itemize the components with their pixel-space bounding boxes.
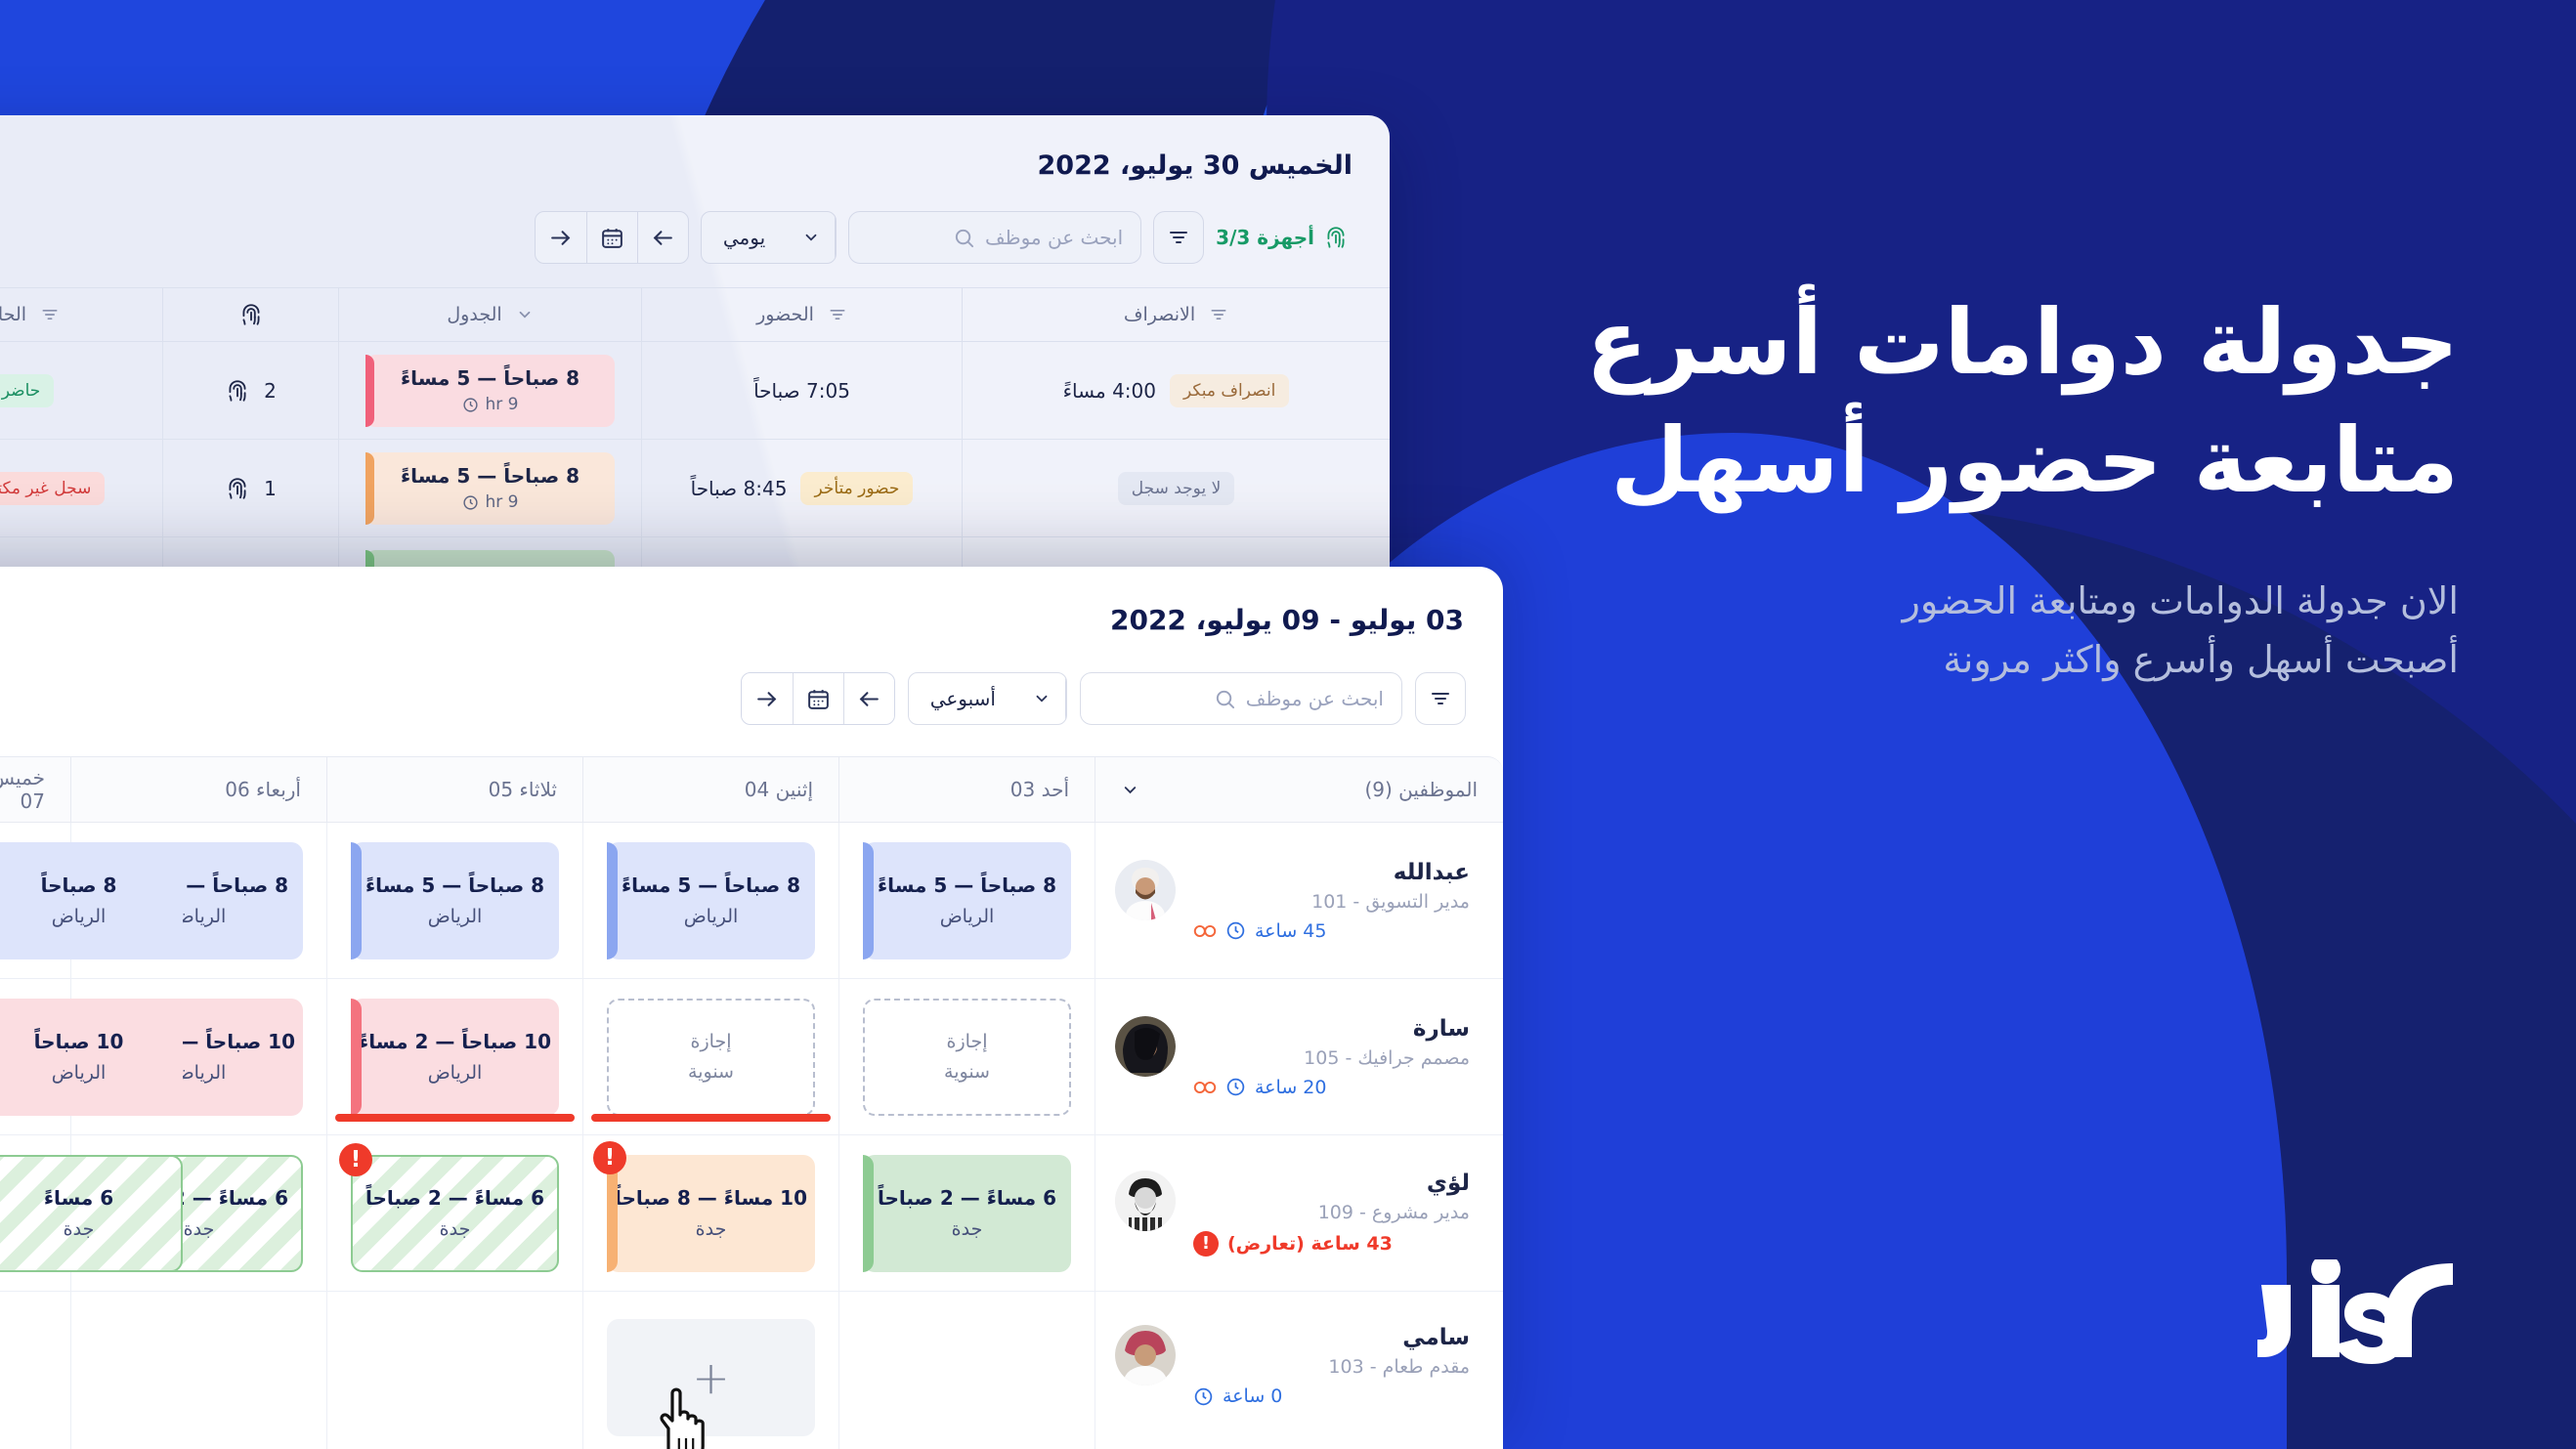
cell-add-shift[interactable]: + [582,1292,838,1449]
employee-role: مدير مشروع - 109 [1193,1202,1470,1223]
employee-info: لؤي مدير مشروع - 109 43 ساعة (تعارض) ! [1095,1171,1503,1257]
shift-card[interactable]: 8 صباحاً — 5 مساءً 9 hr [365,452,615,525]
hero-subtext: الان جدولة الدوامات ومتابعة الحضور أصبحت… [1384,572,2459,689]
clock-icon [462,397,479,413]
shift-time: 8 صباحاً — 5 مساءً [622,874,800,897]
table-row[interactable]: لا يوجد سجل حضور متأخر 8:45 صباحاً 8 صبا… [0,440,1390,537]
day-label: أحد 03 [1010,778,1069,801]
leave-type: إجازة [691,1031,732,1052]
cell-shift[interactable]: 8 صباحاً — 5 مساءً الرياض [326,823,582,978]
shift-time: 6 مساءً [44,1186,113,1210]
cell-shift[interactable]: 8 صباحاً الرياض [0,823,70,978]
employee-name: سامي [1193,1325,1470,1350]
daily-filter-button[interactable] [1153,211,1204,264]
column-header-employee-label: الموظفين (9) [1364,778,1478,801]
arrow-left-icon [857,687,881,711]
status-badge-label: سجل غير مكتمل [0,479,91,498]
shift-location: الرياض [52,1062,107,1084]
cell-shift[interactable]: ! 6 مساءً — 2 صباحاً جدة [326,1135,582,1291]
employee-role: مدير التسويق - 101 [1193,891,1470,913]
chevron-down-icon [516,306,534,323]
employee-info: سامي مقدم طعام - 103 0 ساعة [1095,1325,1503,1407]
shift-location: الرياض [52,906,107,927]
device-count: 1 [264,477,277,500]
column-header-device[interactable] [162,288,338,341]
shift-location: الرياض [940,906,995,927]
hero-subtext-line-1: الان جدولة الدوامات ومتابعة الحضور [1902,579,2459,622]
day-label: خميس 07 [0,766,45,813]
cell-shift[interactable]: 6 مساءً جدة [0,1135,70,1291]
arrow-right-icon [754,687,779,711]
shift-location: جدة [952,1218,983,1240]
shift-time: 6 مساءً — 2 صباحاً [878,1186,1056,1210]
cell-shift[interactable]: 10 صباحاً — 2 مساءً الرياض [326,979,582,1134]
filter-icon [1167,226,1190,249]
leave-subtype: سنوية [688,1061,734,1083]
column-header-status[interactable]: الحالة [0,288,162,341]
arrow-right-icon [548,226,573,250]
daily-calendar-button[interactable] [586,212,637,263]
shift-card-edge [351,842,362,959]
shift-time: 8 صباحاً — 5 مساءً [387,366,593,390]
column-header-checkout[interactable]: الانصراف [962,288,1390,341]
shift-card[interactable]: 6 مساءً — 2 صباحاً جدة [863,1155,1071,1272]
daily-prev-button[interactable] [637,212,688,263]
cell-employee: لؤي مدير مشروع - 109 43 ساعة (تعارض) ! [1095,1135,1503,1291]
alert-icon: ! [1193,1231,1219,1257]
column-header-day-3[interactable]: أربعاء 06 [70,757,326,822]
leave-type: إجازة [947,1031,988,1052]
cell-checkin: 7:05 صباحاً [641,342,962,439]
shift-location: الرياض [428,1062,483,1084]
cell-status: سجل غير مكتمل [0,440,162,536]
table-row[interactable]: لؤي مدير مشروع - 109 43 ساعة (تعارض) ! [0,1135,1503,1292]
status-badge: حاضر [0,374,54,407]
column-header-status-label: الحالة [0,304,26,325]
leave-subtype: سنوية [944,1061,990,1083]
weekly-next-button[interactable] [742,673,793,724]
column-header-day-2[interactable]: ثلاثاء 05 [326,757,582,822]
clock-icon [1225,1077,1246,1097]
employee-name: سارة [1193,1016,1470,1042]
shift-card[interactable]: 6 مساءً جدة [0,1155,183,1272]
cell-employee: عبدالله مدير التسويق - 101 45 ساعة [1095,823,1503,978]
weekly-toolbar: ابحث عن موظف أسبوعي [741,672,1466,725]
clock-icon [462,494,479,511]
fingerprint-icon [238,302,264,327]
daily-attendance-panel: الخميس 30 يوليو، 2022 أجهزة 3/3 ابحث عن … [0,115,1390,604]
clock-icon [1193,1386,1214,1407]
shift-location: جدة [184,1218,215,1240]
employee-hours-label: 0 ساعة [1223,1385,1282,1407]
chevron-down-icon [1121,781,1139,799]
column-header-checkin-label: الحضور [756,304,814,325]
hero-headline: جدولة دوامات أسرع متابعة حضور أسهل [1384,283,2459,521]
employee-role: مقدم طعام - 103 [1193,1356,1470,1378]
shift-card[interactable]: 8 صباحاً — 5 مساءً الرياض [351,842,559,959]
calendar-icon [600,226,624,250]
filter-icon [40,305,60,324]
table-row[interactable]: انصراف مبكر 4:00 مساءً 7:05 صباحاً 8 صبا… [0,342,1390,440]
shift-time: 8 صباحاً — 5 مساءً [365,874,544,897]
cell-status: حاضر [0,342,162,439]
calendar-icon [806,687,831,711]
shift-card[interactable]: 10 صباحاً الرياض [0,999,183,1116]
weekly-search-placeholder: ابحث عن موظف [1246,687,1384,710]
column-header-schedule-label: الجدول [447,304,501,325]
daily-search-input[interactable]: ابحث عن موظف [848,211,1141,264]
devices-badge: أجهزة 3/3 [1216,225,1349,250]
hero-section: جدولة دوامات أسرع متابعة حضور أسهل الان … [1384,283,2459,689]
shift-location: جدة [64,1218,95,1240]
status-badge: سجل غير مكتمل [0,472,105,505]
table-row[interactable]: سارة مصمم جرافيك - 105 20 ساعة [0,979,1503,1135]
cell-shift[interactable]: 8 صباحاً — 5 مساءً الرياض [838,823,1095,978]
cell-checkout: انصراف مبكر 4:00 مساءً [962,342,1390,439]
shift-card-edge [365,355,374,427]
shift-card[interactable]: 8 صباحاً الرياض [0,842,183,959]
shift-card[interactable]: 8 صباحاً — 5 مساءً الرياض [863,842,1071,959]
avatar [1115,1325,1176,1385]
shift-location: الرياض [684,906,739,927]
avatar [1115,860,1176,920]
shift-card[interactable]: ! 6 مساءً — 2 صباحاً جدة [351,1155,559,1272]
devices-badge-label: أجهزة 3/3 [1216,226,1314,249]
table-row[interactable]: عبدالله مدير التسويق - 101 45 ساعة [0,823,1503,979]
employee-info: عبدالله مدير التسويق - 101 45 ساعة [1095,860,1503,942]
employee-hours: 20 ساعة [1193,1077,1470,1098]
column-header-day-4[interactable]: خميس 07 [0,757,70,822]
weekly-view-mode-select[interactable]: أسبوعي [908,672,1067,725]
search-icon [953,227,975,249]
fingerprint-icon [1323,225,1349,250]
cell-empty[interactable] [0,1292,70,1449]
status-badge: انصراف مبكر [1170,374,1289,407]
cell-device: 1 [162,440,338,536]
shift-time: 10 مساءً — 8 صباحاً [615,1186,807,1210]
shift-card[interactable]: 8 صباحاً — 5 مساءً 9 hr [365,355,615,427]
column-header-day-0[interactable]: أحد 03 [838,757,1095,822]
weekly-search-input[interactable]: ابحث عن موظف [1080,672,1402,725]
cell-employee: سارة مصمم جرافيك - 105 20 ساعة [1095,979,1503,1134]
search-icon [1214,688,1236,710]
shift-card[interactable]: 10 صباحاً — 2 مساءً الرياض [351,999,559,1116]
cell-checkin: حضور متأخر 8:45 صباحاً [641,440,962,536]
daily-date-nav-group [535,211,689,264]
cell-leave[interactable]: إجازة سنوية [838,979,1095,1134]
cell-empty[interactable] [326,1292,582,1449]
column-header-day-1[interactable]: إثنين 04 [582,757,838,822]
daily-next-button[interactable] [536,212,586,263]
employee-hours-label: 20 ساعة [1255,1077,1326,1098]
status-badge: حضور متأخر [800,472,913,505]
alert-icon[interactable]: ! [339,1143,372,1176]
cell-shift[interactable]: 6 مساءً — 2 صباحاً جدة [838,1135,1095,1291]
cell-device: 2 [162,342,338,439]
shift-time: 8 صباحاً — 5 مساءً [387,464,593,488]
shift-duration: 9 hr [387,492,593,512]
hero-headline-line-1: جدولة دوامات أسرع [1586,290,2459,395]
cell-shift[interactable]: 10 صباحاً الرياض [0,979,70,1134]
shift-duration: 9 hr [387,395,593,414]
shift-duration-label: 9 hr [486,395,519,414]
day-label: إثنين 04 [745,778,813,801]
fingerprint-icon [225,378,250,404]
repeat-icon [1193,923,1217,939]
daily-search-placeholder: ابحث عن موظف [985,226,1123,249]
cell-checkout: لا يوجد سجل [962,440,1390,536]
shift-location: جدة [696,1218,727,1240]
daily-toolbar: أجهزة 3/3 ابحث عن موظف يومي [535,211,1354,264]
day-label: ثلاثاء 05 [489,778,557,801]
leave-card[interactable]: إجازة سنوية [863,999,1071,1116]
cell-schedule: 8 صباحاً — 5 مساءً 9 hr [338,440,641,536]
shift-time: 8 صباحاً — 5 مساءً [878,874,1056,897]
cell-schedule: 8 صباحاً — 5 مساءً 9 hr [338,342,641,439]
cell-shift[interactable]: ! 10 مساءً — 8 صباحاً جدة [582,1135,838,1291]
weekly-prev-button[interactable] [843,673,894,724]
shift-card[interactable]: 8 صباحاً — 5 مساءً الرياض [607,842,815,959]
device-count: 2 [264,379,277,403]
filter-icon [828,305,847,324]
arrow-left-icon [651,226,675,250]
cell-employee: سامي مقدم طعام - 103 0 ساعة [1095,1292,1503,1449]
checkout-time: 4:00 مساءً [1063,379,1156,403]
alert-icon[interactable]: ! [593,1141,626,1174]
filter-icon [1209,305,1228,324]
hero-headline-line-2: متابعة حضور أسهل [1610,408,2459,513]
jisr-logo [2242,1259,2455,1365]
shift-time: 10 صباحاً [34,1030,124,1053]
chevron-down-icon [1017,673,1066,724]
weekly-view-mode-label: أسبوعي [909,673,1017,724]
avatar [1115,1016,1176,1077]
daily-view-mode-select[interactable]: يومي [701,211,837,264]
employee-role: مصمم جرافيك - 105 [1193,1047,1470,1069]
day-label: أربعاء 06 [225,778,301,801]
table-row[interactable]: سامي مقدم طعام - 103 0 ساعة + [0,1292,1503,1449]
fingerprint-icon [225,476,250,501]
weekly-table-header: الموظفين (9) أحد 03 إثنين 04 ثلاثاء 05 أ… [0,756,1503,823]
shift-card-edge [365,452,374,525]
shift-duration-label: 9 hr [486,492,519,512]
employee-name: لؤي [1193,1171,1470,1196]
daily-panel-title: الخميس 30 يوليو، 2022 [1038,150,1353,181]
weekly-calendar-button[interactable] [793,673,843,724]
leave-card[interactable]: إجازة سنوية [607,999,815,1116]
shift-time: 8 صباحاً [41,874,117,897]
hero-subtext-line-2: أصبحت أسهل وأسرع واكثر مرونة [1943,638,2459,681]
clock-icon [1225,920,1246,941]
employee-hours-label: 45 ساعة [1255,920,1326,942]
status-badge: لا يوجد سجل [1118,472,1235,505]
weekly-date-nav-group [741,672,895,725]
shift-location: الرياض [428,906,483,927]
cell-empty[interactable] [70,1292,326,1449]
employee-name: عبدالله [1193,860,1470,885]
shift-card-edge [351,999,362,1116]
employee-hours-label: 43 ساعة (تعارض) [1227,1233,1393,1255]
shift-time: 10 صباحاً — 2 مساءً [359,1030,551,1053]
shift-card[interactable]: ! 10 مساءً — 8 صباحاً جدة [607,1155,815,1272]
filter-icon [1429,687,1452,710]
checkin-time: 7:05 صباحاً [753,379,850,403]
repeat-icon [1193,1080,1217,1095]
conflict-indicator-line [591,1114,831,1122]
avatar [1115,1171,1176,1231]
plus-icon: + [692,1355,730,1400]
column-header-schedule[interactable]: الجدول [338,288,641,341]
daily-table-header: الانصراف الحضور الجدول الحالة الموظفي [0,287,1390,342]
weekly-schedule-panel: 03 يوليو - 09 يوليو، 2022 ابحث عن موظف أ… [0,567,1503,1449]
column-header-checkout-label: الانصراف [1124,304,1195,325]
shift-card-edge [863,1155,874,1272]
column-header-checkin[interactable]: الحضور [641,288,962,341]
shift-time: 6 مساءً — 2 صباحاً [365,1186,544,1210]
cell-shift[interactable]: 8 صباحاً — 5 مساءً الرياض [582,823,838,978]
employee-hours-conflict: 43 ساعة (تعارض) ! [1193,1231,1470,1257]
daily-view-mode-label: يومي [702,212,787,263]
add-shift-button[interactable]: + [607,1319,815,1436]
cell-empty[interactable] [838,1292,1095,1449]
column-header-employee[interactable]: الموظفين (9) [1095,757,1503,822]
employee-info: سارة مصمم جرافيك - 105 20 ساعة [1095,1016,1503,1098]
conflict-indicator-line [335,1114,575,1122]
shift-card-edge [607,842,618,959]
employee-hours: 0 ساعة [1193,1385,1470,1407]
checkin-time: 8:45 صباحاً [691,477,788,500]
shift-card-edge [863,842,874,959]
cell-leave[interactable]: إجازة سنوية [582,979,838,1134]
chevron-down-icon [787,212,836,263]
employee-hours: 45 ساعة [1193,920,1470,942]
shift-location: جدة [440,1218,471,1240]
